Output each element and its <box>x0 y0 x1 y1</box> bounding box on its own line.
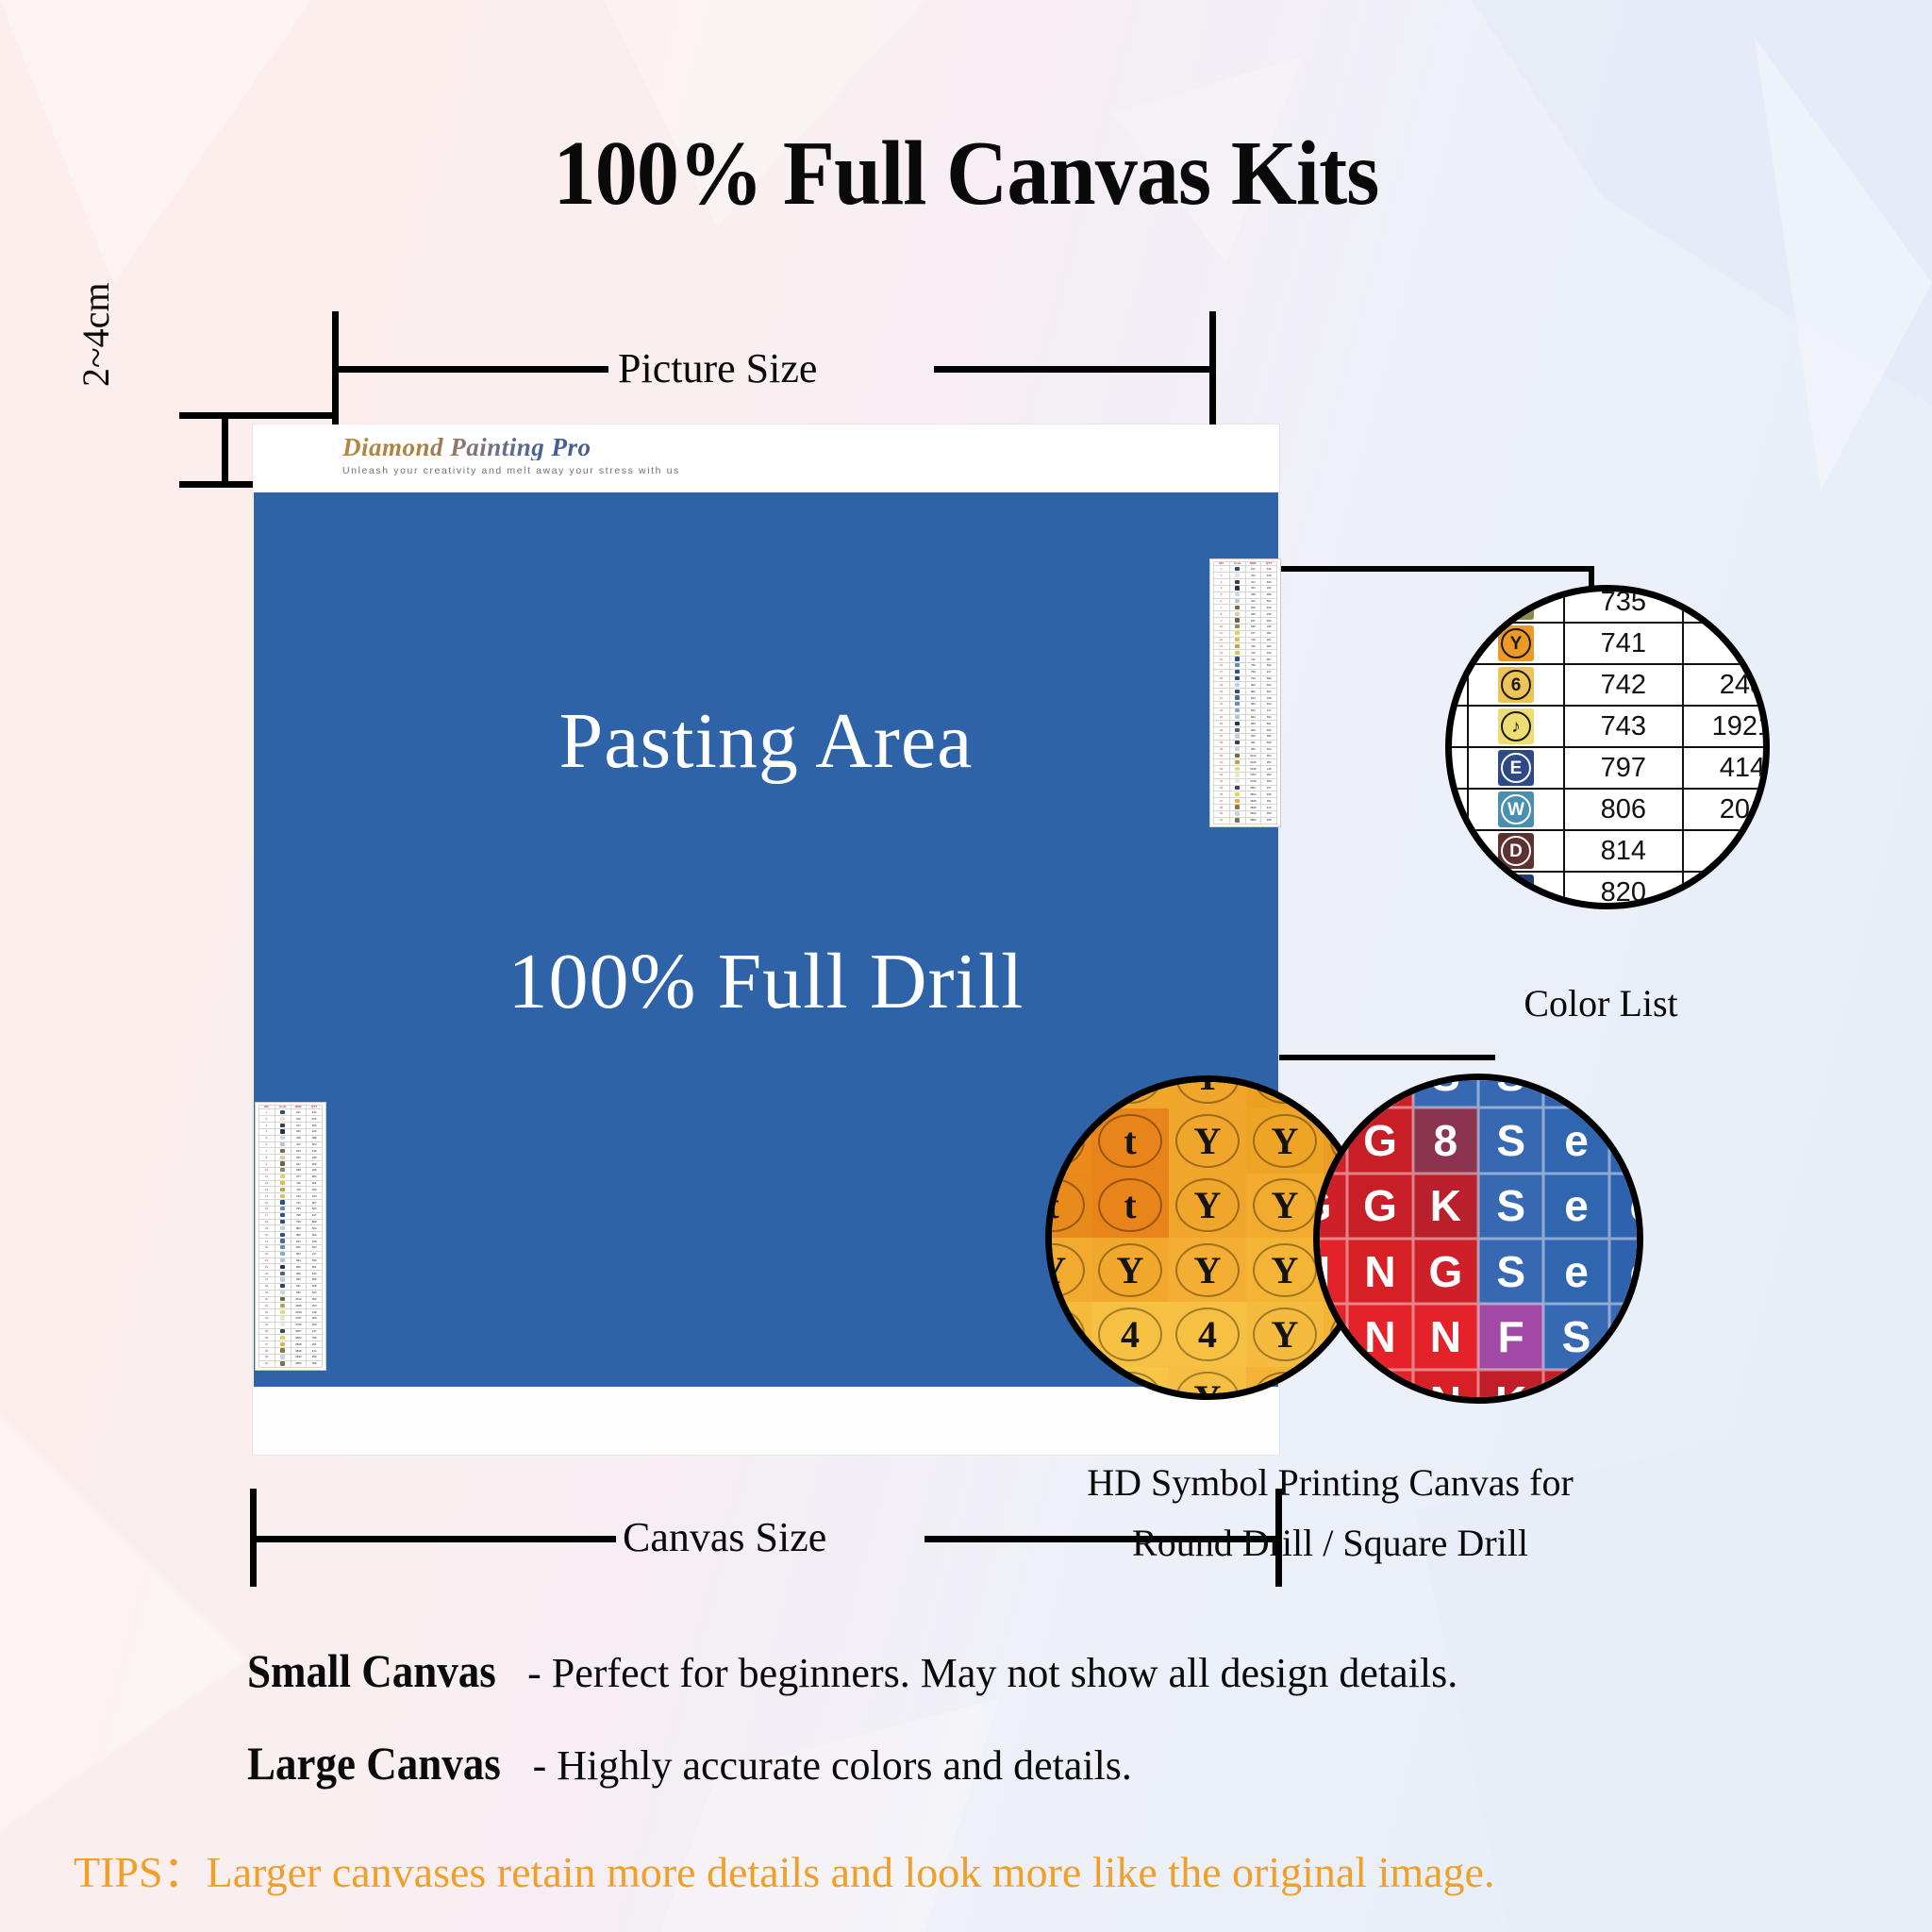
color-list-zoom-row: 16.E797414 <box>1445 747 1770 789</box>
drill-symbol: S <box>1496 1074 1525 1101</box>
drill-symbol: 4 <box>1098 1307 1162 1361</box>
color-list-row: 10.648246 <box>259 1167 323 1174</box>
color-list-row: 5.338998 <box>259 1135 323 1141</box>
tips-key: TIPS： <box>74 1848 207 1896</box>
color-list-row: 6.413524 <box>1214 598 1277 605</box>
round-drill-cell: Y <box>1091 1238 1169 1302</box>
full-drill-title: 100% Full Drill <box>254 936 1278 1027</box>
tips-value: Larger canvases retain more details and … <box>207 1848 1495 1896</box>
drill-symbol: Y <box>1253 1178 1317 1232</box>
drill-symbol: S <box>1627 1311 1643 1362</box>
square-drill-cell: N <box>1413 1304 1478 1369</box>
color-symbol-swatch: W <box>1498 791 1534 827</box>
color-list-row: 17.798217 <box>1214 669 1277 675</box>
drill-symbol: N <box>1430 1311 1461 1362</box>
color-list-strip-right: NO.CodeDMCQTY1.1614322.3124263.3176364.3… <box>1209 558 1281 827</box>
color-list-row: 7.640430 <box>259 1148 323 1155</box>
drill-symbol: S <box>1431 1074 1460 1101</box>
square-drill-cell: e <box>1609 1108 1643 1173</box>
drill-symbol: Y <box>1175 1178 1240 1232</box>
color-symbol-swatch: E <box>1498 750 1534 786</box>
drill-symbol: e <box>1630 1074 1643 1101</box>
color-list-row: 37.3828291 <box>1214 798 1277 805</box>
color-list-magnifier: ★735Y741114.674224815.♪743192116.E797414… <box>1445 585 1770 909</box>
color-list-row: 9.647363 <box>259 1161 323 1168</box>
color-list-row: 34.3799609 <box>259 1322 323 1328</box>
color-list-row: 39.3842359 <box>1214 810 1277 817</box>
drill-symbol: e <box>1630 1115 1643 1166</box>
color-list-row: 32.3348148 <box>1214 766 1277 773</box>
color-list-row: 20.809604 <box>259 1232 323 1239</box>
drill-symbol: N <box>1430 1376 1461 1404</box>
picture-size-rule-right <box>934 366 1212 373</box>
square-drill-cell: S <box>1478 1074 1543 1108</box>
drill-symbol: Y <box>1175 1372 1240 1400</box>
color-symbol-swatch: 6 <box>1498 667 1534 703</box>
round-drill-cell: Y <box>1246 1174 1324 1238</box>
drill-symbol: Y <box>1045 1243 1085 1297</box>
pasting-area-title: Pasting Area <box>254 695 1278 787</box>
drill-symbol: e <box>1564 1180 1589 1231</box>
square-drill-cell: S <box>1478 1239 1543 1304</box>
drill-symbol: N <box>1364 1376 1395 1404</box>
square-drill-cell: e <box>1543 1074 1608 1108</box>
small-canvas-note: Small Canvas - Perfect for beginners. Ma… <box>247 1643 1457 1698</box>
color-list-row: 38.3829414 <box>259 1348 323 1355</box>
drill-symbol: Y <box>1253 1114 1317 1168</box>
color-list-row: 15.742907 <box>259 1200 323 1207</box>
drill-symbol: e <box>1564 1074 1589 1101</box>
square-drill-cell: S <box>1478 1108 1543 1173</box>
color-list-row: 22.820524 <box>1214 701 1277 708</box>
color-list-row: 14.743233 <box>1214 650 1277 657</box>
leader-colorlist-h <box>1281 566 1592 572</box>
color-list-row: 39.3842359 <box>259 1354 323 1360</box>
color-list-row: 35.3607217 <box>259 1328 323 1335</box>
square-drill-cell: G <box>1347 1174 1412 1239</box>
square-drill-cell: e <box>1543 1239 1608 1304</box>
color-list-row: 16.796524 <box>1214 662 1277 669</box>
color-list-row: 13.729293 <box>259 1187 323 1193</box>
color-list-row: 18.799899 <box>1214 675 1277 682</box>
drill-symbol: S <box>1496 1180 1525 1231</box>
round-drill-cell: Y <box>1246 1238 1324 1302</box>
canvas-logo-bar: Diamond Painting Pro Unleash your creati… <box>253 425 1279 492</box>
square-drill-cell: e <box>1609 1239 1643 1304</box>
round-drill-cell: Y <box>1246 1302 1324 1366</box>
color-list-row: 3.317636 <box>259 1123 323 1129</box>
drill-symbol: e <box>1630 1246 1643 1297</box>
square-drill-cell: S <box>1478 1174 1543 1239</box>
color-list-row: 10.648246 <box>1214 624 1277 630</box>
page-title: 100% Full Canvas Kits <box>77 121 1855 226</box>
square-drill-grid: GGSSeeGG8SeeGGKSeeNNGSeeNNNFSSNNNKKK <box>1313 1074 1643 1404</box>
square-drill-cell: S <box>1609 1304 1643 1369</box>
color-list-row: 8.645339 <box>1214 611 1277 618</box>
color-list-row: 36.3822336 <box>259 1335 323 1341</box>
canvas-size-label: Canvas Size <box>623 1513 826 1561</box>
color-list-row: 8.645339 <box>259 1155 323 1161</box>
color-list-strip-left: NO.CodeDMCQTY1.1614322.3124263.3176364.3… <box>255 1102 326 1371</box>
color-list-zoom-row: a820 <box>1445 872 1770 909</box>
color-list-row: 24.824534 <box>259 1257 323 1264</box>
square-drill-cell: G <box>1347 1074 1412 1108</box>
drill-symbol: S <box>1496 1115 1525 1166</box>
color-symbol-swatch: D <box>1498 833 1534 869</box>
color-list-row: 2.312426 <box>259 1116 323 1123</box>
color-list-row: 30.3012353 <box>1214 753 1277 759</box>
color-list-row: 32.3348148 <box>259 1309 323 1316</box>
drill-symbol: t <box>1045 1178 1085 1232</box>
blue-chip-right <box>1217 495 1277 554</box>
drill-symbol: S <box>1496 1246 1525 1297</box>
color-list-zoom-row: 15.♪7431921 <box>1445 706 1770 747</box>
drill-symbol: K <box>1430 1180 1461 1231</box>
color-list-row: 9.647363 <box>1214 618 1277 625</box>
color-list-row: 23.823217 <box>259 1251 323 1257</box>
square-drill-cell: N <box>1347 1239 1412 1304</box>
color-list-row: 11.677284 <box>259 1174 323 1180</box>
color-list-row: 14.743233 <box>259 1193 323 1200</box>
drill-symbol: Y <box>1175 1243 1240 1297</box>
square-drill-cell: N <box>1413 1370 1478 1404</box>
color-list-zoom-row: 17.W806204 <box>1445 789 1770 830</box>
color-list-row: 17.798217 <box>259 1212 323 1219</box>
large-canvas-note: Large Canvas - Highly accurate colors an… <box>247 1736 1132 1790</box>
square-drill-cell: e <box>1543 1108 1608 1173</box>
large-canvas-desc: - Highly accurate colors and details. <box>533 1742 1132 1789</box>
hd-caption-line1: HD Symbol Printing Canvas for <box>1038 1460 1623 1505</box>
round-drill-cell: 4 <box>1169 1302 1246 1366</box>
color-list-row: 19.803522 <box>1214 682 1277 689</box>
drill-symbol: Y <box>1098 1243 1162 1297</box>
blue-chip-left <box>260 1028 319 1087</box>
color-list-row: 40.3852358 <box>1214 817 1277 824</box>
color-list-row: 21.813349 <box>1214 695 1277 702</box>
color-list-row: 23.823217 <box>1214 708 1277 714</box>
color-list-row: 33.3787369 <box>259 1315 323 1322</box>
drill-symbol: N <box>1364 1246 1395 1297</box>
drill-symbol: K <box>1626 1376 1643 1404</box>
color-list-row: 22.820524 <box>259 1244 323 1251</box>
infographic-stage: 100% Full Canvas Kits Picture Size 2~4cm… <box>0 0 1932 1932</box>
color-list-row: 25.825801 <box>259 1264 323 1271</box>
drill-symbol: Y <box>1175 1075 1240 1104</box>
square-drill-cell: G <box>1413 1239 1478 1304</box>
square-drill-cell: e <box>1543 1174 1608 1239</box>
drill-symbol: e <box>1564 1246 1589 1297</box>
drill-symbol: K <box>1495 1376 1526 1404</box>
color-list-row: 4.334226 <box>259 1128 323 1135</box>
drill-symbol: K <box>1560 1376 1591 1404</box>
drill-symbol: Y <box>1253 1243 1317 1297</box>
round-drill-cell: t <box>1045 1174 1091 1238</box>
margin-label: 2~4cm <box>74 245 118 387</box>
color-list-row: 5.338998 <box>1214 591 1277 598</box>
tips-line: TIPS：Larger canvases retain more details… <box>74 1838 1494 1900</box>
color-symbol-swatch: ♪ <box>1498 708 1534 744</box>
margin-tick-vert <box>222 412 228 488</box>
square-drill-cell: e <box>1609 1074 1643 1108</box>
color-symbol-swatch: a <box>1498 874 1534 909</box>
square-drill-cell: K <box>1609 1370 1643 1404</box>
color-list-row: 15.742907 <box>1214 657 1277 663</box>
drill-symbol: G <box>1363 1074 1397 1101</box>
square-drill-cell: 8 <box>1413 1108 1478 1173</box>
brand-name: Diamond Painting Pro <box>342 434 680 460</box>
color-list-row: 31.3325353 <box>1214 759 1277 766</box>
round-drill-cell: Y <box>1246 1108 1324 1173</box>
color-list-row: 2.312426 <box>1214 573 1277 579</box>
round-drill-cell: Y <box>1169 1174 1246 1238</box>
color-list-row: 26.828534 <box>1214 727 1277 734</box>
color-list-row: 34.3799609 <box>1214 778 1277 785</box>
round-drill-cell: Y <box>1169 1075 1246 1108</box>
color-list-row: 29.939524 <box>259 1290 323 1296</box>
color-list-row: 40.3852358 <box>259 1360 323 1367</box>
color-list-row: 19.803522 <box>259 1225 323 1232</box>
brand-logo: Diamond Painting Pro Unleash your creati… <box>342 434 680 476</box>
round-drill-cell: t <box>1091 1174 1169 1238</box>
square-drill-cell: K <box>1478 1370 1543 1404</box>
round-drill-cell: Y <box>1045 1302 1091 1366</box>
round-drill-cell: 4 <box>1091 1302 1169 1366</box>
color-list-row: 20.809604 <box>1214 689 1277 695</box>
color-list-row: 3.317636 <box>1214 579 1277 586</box>
color-list-zoom-row: 14.6742248 <box>1445 664 1770 706</box>
picture-size-label: Picture Size <box>618 344 817 392</box>
color-list-row: 12.728261 <box>259 1180 323 1187</box>
color-list-row: 26.828534 <box>259 1271 323 1277</box>
color-list-row: 28.931528 <box>1214 740 1277 746</box>
color-list-row: 36.3822336 <box>1214 791 1277 798</box>
color-list-row: 27.930665 <box>259 1277 323 1284</box>
drill-symbol: Y <box>1045 1307 1085 1361</box>
color-list-row: 18.799899 <box>259 1219 323 1225</box>
color-symbol-swatch: Y <box>1498 625 1534 661</box>
square-drill-cell: G <box>1347 1108 1412 1173</box>
square-drill-cell: S <box>1413 1074 1478 1108</box>
drill-symbol: G <box>1428 1246 1462 1297</box>
picture-size-rule-left <box>335 366 608 373</box>
drill-symbol: F <box>1498 1311 1524 1362</box>
drill-symbol: 8 <box>1434 1115 1458 1166</box>
margin-tick-top <box>179 412 335 419</box>
square-drill-cell: N <box>1347 1370 1412 1404</box>
color-list-row: 12.728261 <box>1214 637 1277 643</box>
canvas-size-rule-left <box>253 1536 616 1542</box>
color-list-zoom-row: Y7411 <box>1445 623 1770 664</box>
brand-tagline: Unleash your creativity and melt away yo… <box>342 465 680 476</box>
square-drill-cell: K <box>1543 1370 1608 1404</box>
color-symbol-swatch: ★ <box>1498 585 1534 620</box>
color-list-row: 1.161432 <box>1214 566 1277 573</box>
color-list-caption: Color List <box>1445 981 1757 1025</box>
hd-caption-line2: Round Drill / Square Drill <box>1038 1521 1623 1565</box>
color-list-row: 1.161432 <box>259 1109 323 1116</box>
small-canvas-label: Small Canvas <box>247 1643 496 1698</box>
drill-symbol: G <box>1045 1114 1085 1168</box>
small-canvas-desc: - Perfect for beginners. May not show al… <box>527 1650 1457 1696</box>
drill-symbol: Y <box>1253 1307 1317 1361</box>
color-list-row: 28.931528 <box>259 1283 323 1290</box>
color-list-row: 25.825801 <box>1214 721 1277 727</box>
color-list-zoom-row: 18.D81440 <box>1445 830 1770 872</box>
square-drill-magnifier: GGSSeeGG8SeeGGKSeeNNGSeeNNNFSSNNNKKK <box>1313 1074 1643 1404</box>
color-list-row: 4.334226 <box>1214 585 1277 591</box>
drill-symbol: G <box>1363 1180 1397 1231</box>
color-list-row: 29.939524 <box>1214 746 1277 753</box>
color-list-row: 33.3787369 <box>1214 772 1277 778</box>
color-list-row: 35.3607217 <box>1214 785 1277 791</box>
drill-symbol: e <box>1630 1180 1643 1231</box>
square-drill-cell: F <box>1478 1304 1543 1369</box>
color-list-row: 31.3325353 <box>259 1303 323 1309</box>
round-drill-cell: Y <box>1045 1238 1091 1302</box>
round-drill-cell: Y <box>1169 1108 1246 1173</box>
color-list-row: 11.677284 <box>1214 630 1277 637</box>
drill-symbol: t <box>1098 1114 1162 1168</box>
square-drill-cell: S <box>1543 1304 1608 1369</box>
round-drill-cell: t <box>1091 1108 1169 1173</box>
color-list-row: 16.796524 <box>259 1206 323 1212</box>
drill-symbol: e <box>1564 1115 1589 1166</box>
color-list-row: 27.930665 <box>1214 734 1277 741</box>
color-list-row: 7.640430 <box>1214 605 1277 611</box>
drill-symbol: t <box>1098 1178 1162 1232</box>
round-drill-cell: Y <box>1169 1367 1246 1400</box>
large-canvas-label: Large Canvas <box>247 1736 501 1790</box>
color-list-row: 24.824534 <box>1214 714 1277 721</box>
color-list-row: 37.3828291 <box>259 1341 323 1348</box>
square-drill-cell: N <box>1347 1304 1412 1369</box>
drill-symbol: S <box>1562 1311 1591 1362</box>
drill-symbol: Y <box>1175 1114 1240 1168</box>
round-drill-cell: Y <box>1169 1238 1246 1302</box>
color-list-zoom-row: ★735 <box>1445 585 1770 623</box>
square-drill-cell: e <box>1609 1174 1643 1239</box>
color-list-row: 6.413524 <box>259 1141 323 1148</box>
color-list-row: 21.813349 <box>259 1239 323 1245</box>
round-drill-cell: G <box>1045 1108 1091 1173</box>
color-list-row: 13.729293 <box>1214 643 1277 650</box>
drill-symbol: 4 <box>1175 1307 1240 1361</box>
color-list-row: 38.3829414 <box>1214 805 1277 811</box>
drill-symbol: G <box>1363 1115 1397 1166</box>
drill-symbol: N <box>1364 1311 1395 1362</box>
color-list-table-left: NO.CodeDMCQTY1.1614322.3124263.3176364.3… <box>258 1105 323 1368</box>
color-list-table-right: NO.CodeDMCQTY1.1614322.3124263.3176364.3… <box>1213 561 1277 824</box>
color-list-row: 30.3012353 <box>259 1296 323 1303</box>
color-list-zoom-table: ★735Y741114.674224815.♪743192116.E797414… <box>1445 585 1770 909</box>
square-drill-cell: K <box>1413 1174 1478 1239</box>
